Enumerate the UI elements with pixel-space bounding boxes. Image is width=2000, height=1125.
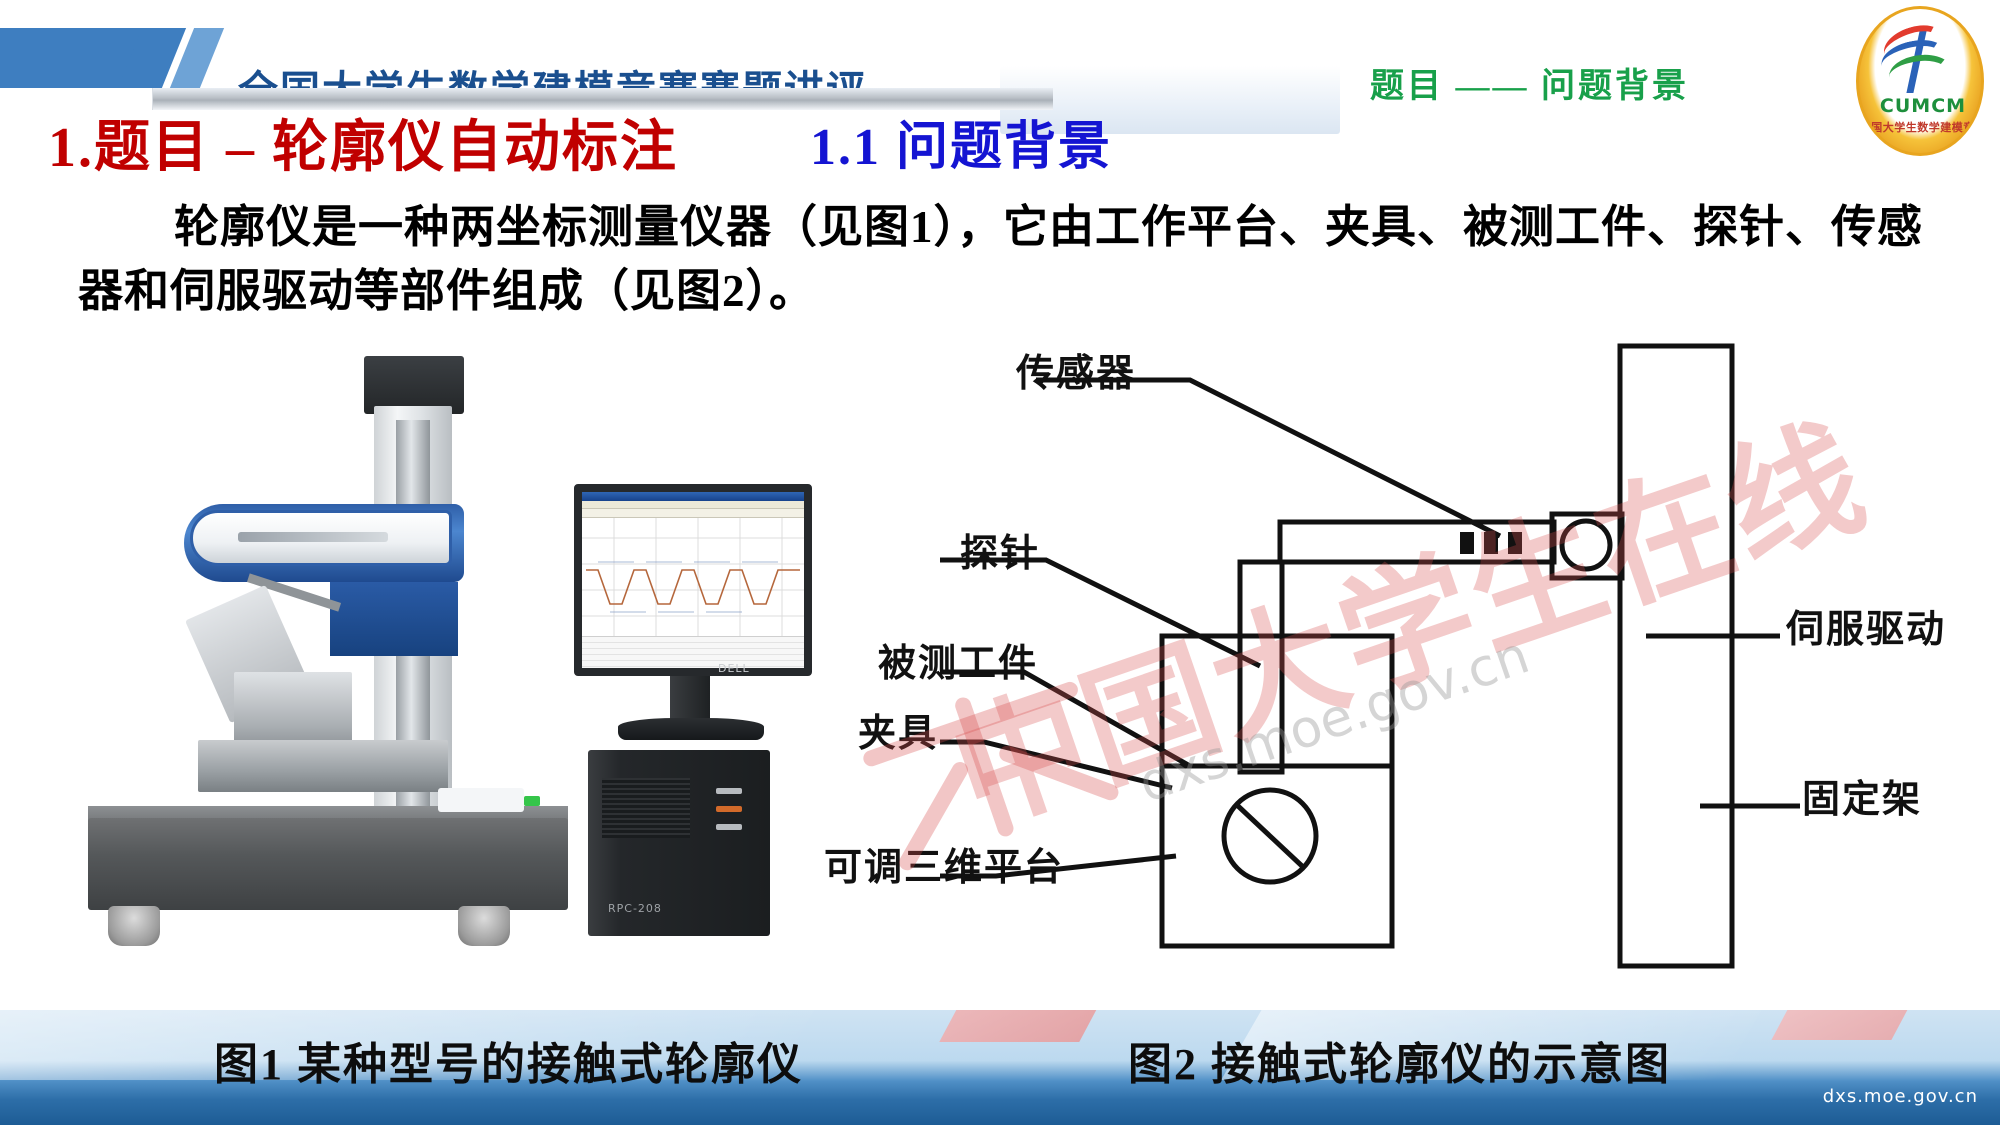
machine-stage — [198, 740, 448, 792]
slide-title-main: 1.题目 – 轮廓仪自动标注 — [48, 102, 678, 183]
machine-blue-block — [330, 582, 458, 656]
figure1-photo: DELL RPC-208 — [78, 336, 918, 1016]
monitor-screen — [574, 484, 812, 676]
window-titlebar — [582, 492, 804, 501]
label-sensor: 传感器 — [1016, 342, 1136, 397]
power-led-indicator — [524, 796, 540, 806]
cumcm-logo: CUMCM 中国大学生数学建模竞赛 — [1856, 6, 1984, 156]
label-fixed-frame: 固定架 — [1802, 768, 1922, 823]
tower-model-label: RPC-208 — [608, 902, 662, 915]
monitor-neck — [670, 676, 710, 722]
figure1-caption: 图1 某种型号的接触式轮廓仪 — [214, 1028, 803, 1092]
slide-title-sub: 1.1 问题背景 — [810, 104, 1112, 179]
body-paragraph: 轮廓仪是一种两坐标测量仪器（见图1），它由工作平台、夹具、被测工件、探针、传感器… — [78, 196, 1938, 324]
tower-vent-grille — [602, 778, 690, 838]
measurement-table — [582, 636, 804, 676]
profile-plot — [582, 518, 804, 636]
band-red-accent-left — [939, 1010, 1120, 1042]
label-fixture: 夹具 — [858, 702, 938, 757]
table-row — [582, 667, 804, 673]
monitor-brand-label: DELL — [718, 662, 750, 675]
tower-button-1 — [716, 788, 742, 794]
monitor-stand — [618, 718, 764, 740]
profile-plot-svg — [582, 518, 804, 636]
header-breadcrumb: 题目 —— 问题背景 — [1370, 58, 1689, 107]
tower-button-3 — [716, 824, 742, 830]
granite-base — [88, 818, 568, 910]
base-foot-right — [458, 906, 510, 946]
label-platform: 可调三维平台 — [824, 836, 1064, 891]
monitor-software-window — [582, 492, 804, 668]
logo-arc-text: 中国大学生数学建模竞赛 — [1859, 119, 1984, 135]
label-workpiece: 被测工件 — [878, 632, 1038, 687]
band-red-accent-right — [1771, 1010, 1928, 1040]
base-small-plate — [438, 788, 524, 812]
label-probe: 探针 — [960, 522, 1040, 577]
base-foot-left — [108, 906, 160, 946]
slide-root: 全国大学生数学建模竞赛赛题讲评 题目 —— 问题背景 CUMCM 中国大学生数学… — [0, 0, 2000, 1125]
tower-button-2 — [716, 806, 742, 812]
label-servo-drive: 伺服驱动 — [1786, 598, 1946, 653]
logo-oval-icon: CUMCM 中国大学生数学建模竞赛 — [1856, 6, 1984, 156]
machine-fixture-box — [234, 672, 352, 750]
figure2-schematic: 传感器 探针 被测工件 夹具 可调三维平台 伺服驱动 固定架 — [940, 336, 1980, 1016]
figure2-caption: 图2 接触式轮廓仪的示意图 — [1128, 1028, 1671, 1092]
footer-url: dxs.moe.gov.cn — [1823, 1086, 1978, 1107]
schematic-svg — [940, 336, 1980, 1016]
header-band: 全国大学生数学建模竞赛赛题讲评 题目 —— 问题背景 — [0, 28, 2000, 88]
window-toolbar — [582, 509, 804, 518]
logo-acronym: CUMCM — [1859, 95, 1984, 117]
machine-arm-slot — [238, 532, 388, 542]
window-menubar — [582, 501, 804, 509]
